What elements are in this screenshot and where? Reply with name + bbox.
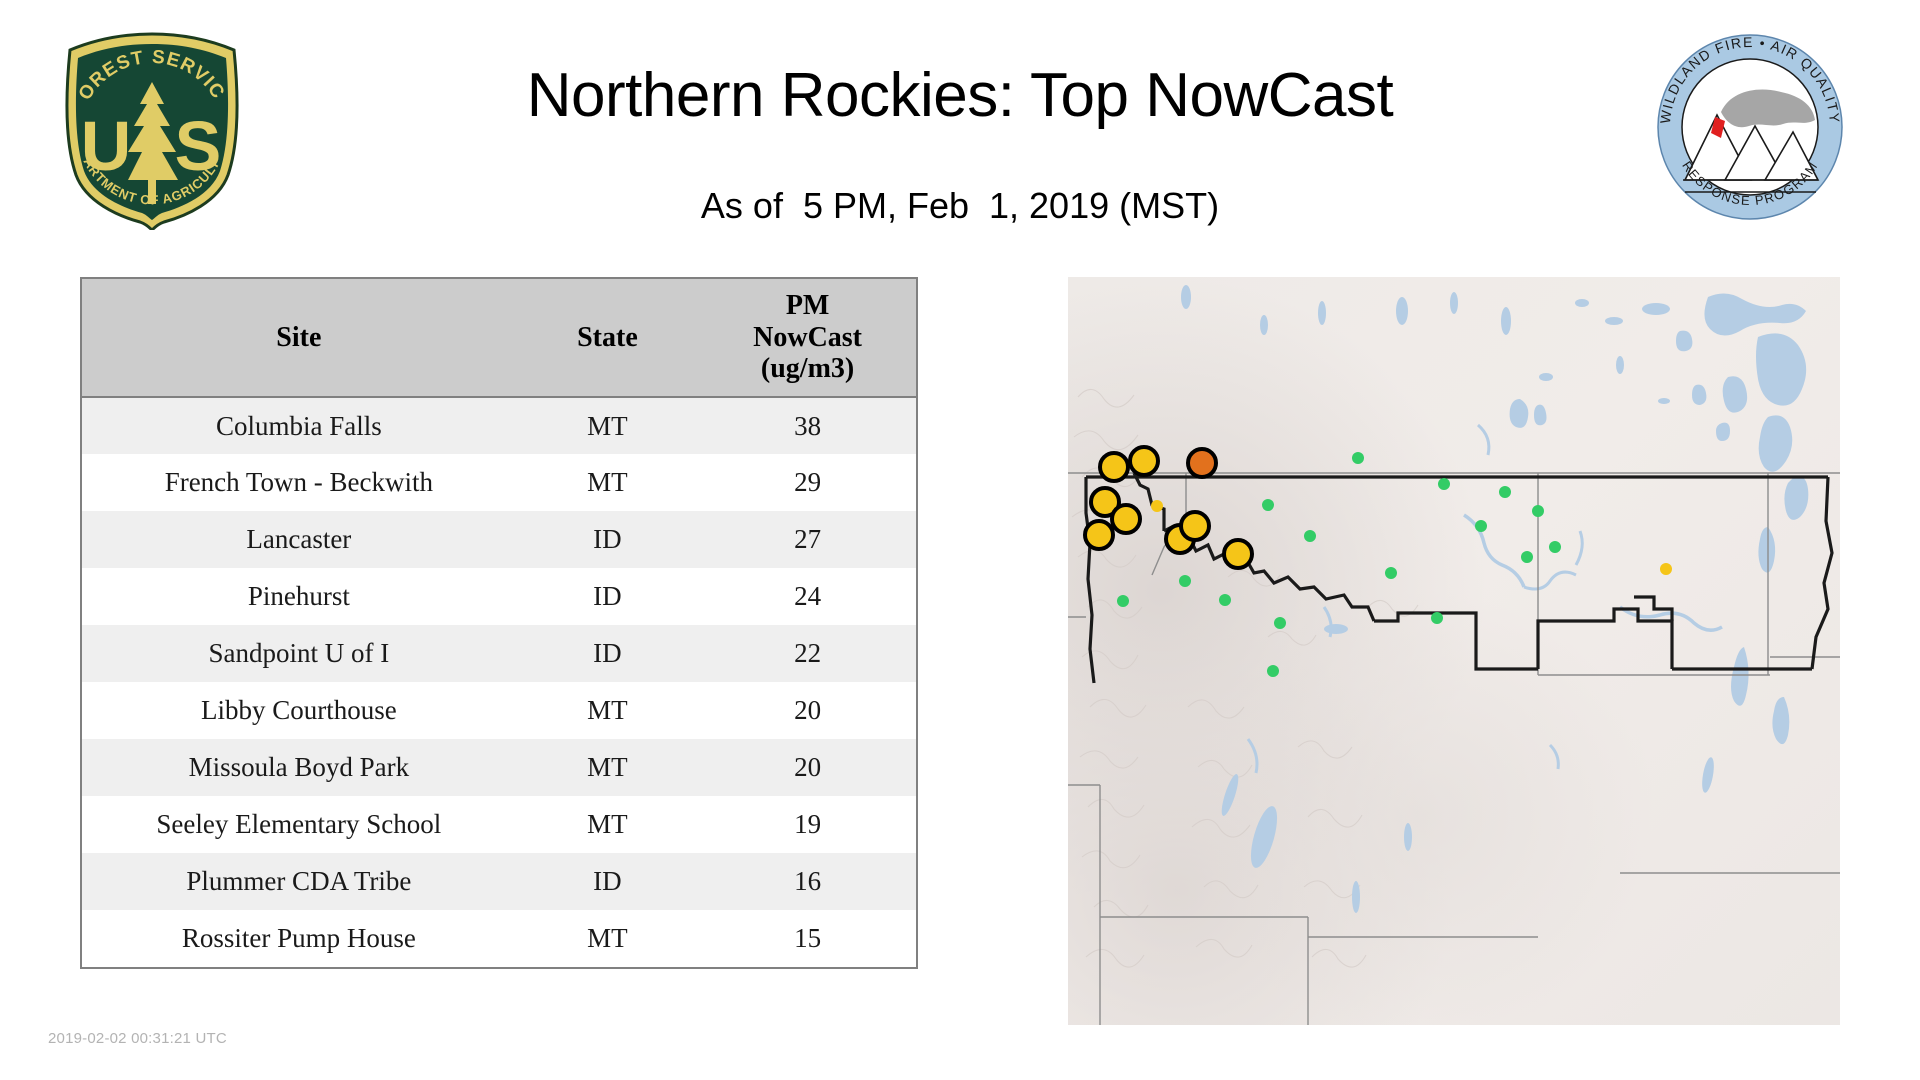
forest-service-logo: FOREST SERVICE U S DEPARTMENT OF AGRICUL… xyxy=(52,30,252,230)
monitor-small[interactable] xyxy=(1151,500,1163,512)
monitor-small[interactable] xyxy=(1532,505,1544,517)
generation-timestamp: 2019-02-02 00:31:21 UTC xyxy=(48,1030,227,1047)
nowcast-table: Site State PM NowCast (ug/m3) Columbia F… xyxy=(82,279,916,967)
cell-site: Plummer CDA Tribe xyxy=(82,853,516,910)
monitor-small[interactable] xyxy=(1304,530,1316,542)
monitor-small[interactable] xyxy=(1117,595,1129,607)
cell-pm-nowcast: 20 xyxy=(699,739,916,796)
cell-state: MT xyxy=(516,739,699,796)
monitor-large[interactable] xyxy=(1100,453,1128,481)
monitor-large[interactable] xyxy=(1224,540,1252,568)
monitor-small[interactable] xyxy=(1219,594,1231,606)
cell-pm-nowcast: 15 xyxy=(699,910,916,967)
monitor-small[interactable] xyxy=(1274,617,1286,629)
table-row[interactable]: Seeley Elementary SchoolMT19 xyxy=(82,796,916,853)
monitor-small[interactable] xyxy=(1499,486,1511,498)
map-canvas xyxy=(1068,277,1840,1025)
page-subtitle: As of 5 PM, Feb 1, 2019 (MST) xyxy=(300,185,1620,227)
table-row[interactable]: Plummer CDA TribeID16 xyxy=(82,853,916,910)
cell-state: MT xyxy=(516,796,699,853)
monitor-small[interactable] xyxy=(1385,567,1397,579)
cell-state: ID xyxy=(516,511,699,568)
cell-site: Rossiter Pump House xyxy=(82,910,516,967)
wildland-fire-logo: WILDLAND FIRE • AIR QUALITY RESPONSE PRO… xyxy=(1655,32,1845,222)
cell-state: ID xyxy=(516,568,699,625)
column-header-site[interactable]: Site xyxy=(82,279,516,397)
cell-pm-nowcast: 27 xyxy=(699,511,916,568)
monitor-small[interactable] xyxy=(1179,575,1191,587)
table-row[interactable]: Rossiter Pump HouseMT15 xyxy=(82,910,916,967)
monitor-small[interactable] xyxy=(1660,563,1672,575)
cell-site: Seeley Elementary School xyxy=(82,796,516,853)
monitor-large[interactable] xyxy=(1130,447,1158,475)
monitor-large[interactable] xyxy=(1112,505,1140,533)
table-row[interactable]: Sandpoint U of IID22 xyxy=(82,625,916,682)
cell-site: Columbia Falls xyxy=(82,397,516,454)
monitor-map[interactable] xyxy=(1068,277,1840,1025)
column-header-pm-line2: NowCast xyxy=(753,322,862,353)
table-row[interactable]: Columbia FallsMT38 xyxy=(82,397,916,454)
cell-site: French Town - Beckwith xyxy=(82,454,516,511)
table-header-row: Site State PM NowCast (ug/m3) xyxy=(82,279,916,397)
cell-state: ID xyxy=(516,625,699,682)
monitor-small[interactable] xyxy=(1475,520,1487,532)
table-row[interactable]: PinehurstID24 xyxy=(82,568,916,625)
monitor-small[interactable] xyxy=(1549,541,1561,553)
cell-pm-nowcast: 22 xyxy=(699,625,916,682)
table-body: Columbia FallsMT38French Town - Beckwith… xyxy=(82,397,916,967)
cell-state: MT xyxy=(516,454,699,511)
monitor-small[interactable] xyxy=(1267,665,1279,677)
cell-state: MT xyxy=(516,397,699,454)
table-row[interactable]: Missoula Boyd ParkMT20 xyxy=(82,739,916,796)
monitor-small[interactable] xyxy=(1431,612,1443,624)
table-row[interactable]: Libby CourthouseMT20 xyxy=(82,682,916,739)
monitor-small[interactable] xyxy=(1352,452,1364,464)
cell-state: MT xyxy=(516,682,699,739)
monitor-small[interactable] xyxy=(1262,499,1274,511)
slide-canvas: FOREST SERVICE U S DEPARTMENT OF AGRICUL… xyxy=(0,0,1920,1080)
cell-state: MT xyxy=(516,910,699,967)
monitor-large[interactable] xyxy=(1085,521,1113,549)
cell-site: Pinehurst xyxy=(82,568,516,625)
monitor-large[interactable] xyxy=(1188,449,1216,477)
cell-pm-nowcast: 19 xyxy=(699,796,916,853)
column-header-pm-line3: (ug/m3) xyxy=(761,353,854,384)
cell-pm-nowcast: 24 xyxy=(699,568,916,625)
monitor-small[interactable] xyxy=(1521,551,1533,563)
cell-pm-nowcast: 20 xyxy=(699,682,916,739)
cell-pm-nowcast: 29 xyxy=(699,454,916,511)
page-title: Northern Rockies: Top NowCast xyxy=(300,60,1620,131)
cell-site: Sandpoint U of I xyxy=(82,625,516,682)
cell-site: Lancaster xyxy=(82,511,516,568)
cell-pm-nowcast: 38 xyxy=(699,397,916,454)
column-header-state[interactable]: State xyxy=(516,279,699,397)
column-header-pm-line1: PM xyxy=(786,290,830,321)
cell-site: Libby Courthouse xyxy=(82,682,516,739)
cell-site: Missoula Boyd Park xyxy=(82,739,516,796)
monitor-large[interactable] xyxy=(1181,512,1209,540)
monitor-small[interactable] xyxy=(1438,478,1450,490)
table-row[interactable]: French Town - BeckwithMT29 xyxy=(82,454,916,511)
cell-pm-nowcast: 16 xyxy=(699,853,916,910)
table-header: Site State PM NowCast (ug/m3) xyxy=(82,279,916,397)
nowcast-table-container: Site State PM NowCast (ug/m3) Columbia F… xyxy=(80,277,918,969)
table-row[interactable]: LancasterID27 xyxy=(82,511,916,568)
cell-state: ID xyxy=(516,853,699,910)
column-header-pm-nowcast[interactable]: PM NowCast (ug/m3) xyxy=(699,279,916,397)
